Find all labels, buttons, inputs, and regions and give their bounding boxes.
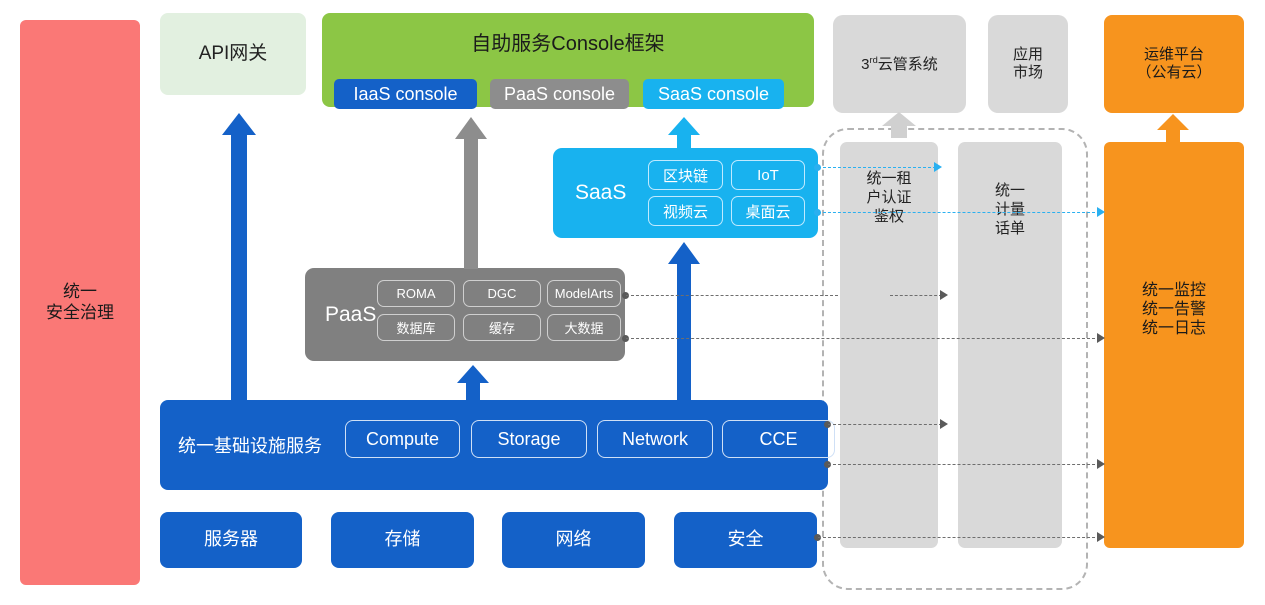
- arrowhead-saas-to-ops: [1097, 207, 1105, 217]
- arrow-infra-to-saas: [668, 242, 700, 400]
- ops-platform-box: 运维平台 （公有云）: [1104, 15, 1244, 113]
- arrowhead-auth-to-billing: [940, 290, 948, 300]
- architecture-diagram: 统一 安全治理 API网关 自助服务Console框架 IaaS console…: [0, 0, 1265, 605]
- saas-label: SaaS: [575, 181, 626, 205]
- ops-monitoring-column: 统一监控 统一告警 统一日志: [1104, 142, 1244, 548]
- shared-service-auth-text: 统一租 户认证 鉴权: [840, 170, 938, 226]
- resource-box-security[interactable]: 安全: [674, 512, 817, 568]
- resource-box-network[interactable]: 网络: [502, 512, 645, 568]
- connector-infra-to-ops: [828, 464, 1100, 465]
- arrow-infra-to-paas: [457, 365, 489, 401]
- saas-chip-desktop-cloud[interactable]: 桌面云: [731, 196, 805, 226]
- infra-chip-network[interactable]: Network: [597, 420, 713, 458]
- saas-console-chip[interactable]: SaaS console: [643, 79, 784, 109]
- app-market-box: 应用 市场: [988, 15, 1068, 113]
- arrowhead-infra-to-ops: [1097, 459, 1105, 469]
- saas-chip-video-cloud[interactable]: 视频云: [648, 196, 723, 226]
- connector-paas-to-ops: [626, 338, 1100, 339]
- paas-chip-bigdata[interactable]: 大数据: [547, 314, 621, 341]
- connector-paas-to-auth: [626, 295, 838, 296]
- iaas-console-chip[interactable]: IaaS console: [334, 79, 477, 109]
- paas-chip-roma[interactable]: ROMA: [377, 280, 455, 307]
- paas-console-label: PaaS console: [504, 84, 615, 105]
- arrow-infra-to-api-gateway: [222, 113, 256, 401]
- arrow-saas-to-console: [668, 117, 700, 149]
- third-party-cloud-box: 3rd云管系统: [833, 15, 966, 113]
- arrowhead-saas-to-auth: [934, 162, 942, 172]
- security-governance-line1: 统一: [63, 282, 97, 302]
- paas-chip-modelarts[interactable]: ModelArts: [547, 280, 621, 307]
- shared-service-billing-text: 统一 计量 话单: [958, 182, 1062, 238]
- ops-monitoring-line1: 统一监控: [1142, 282, 1206, 301]
- paas-box: PaaS ROMA DGC ModelArts 数据库 缓存 大数据: [305, 268, 625, 361]
- infrastructure-label: 统一基础设施服务: [178, 432, 322, 458]
- app-market-line2: 市场: [1013, 64, 1043, 82]
- app-market-line1: 应用: [1013, 46, 1043, 64]
- saas-console-label: SaaS console: [658, 84, 769, 105]
- saas-chip-blockchain[interactable]: 区块链: [648, 160, 723, 190]
- arrow-ops-column-to-ops-platform: [1157, 114, 1189, 144]
- paas-label: PaaS: [325, 303, 376, 327]
- saas-box: SaaS 区块链 IoT 视频云 桌面云: [553, 148, 818, 238]
- iaas-console-label: IaaS console: [353, 84, 457, 105]
- resource-box-server[interactable]: 服务器: [160, 512, 302, 568]
- console-framework-title: 自助服务Console框架: [322, 27, 814, 56]
- api-gateway-box: API网关: [160, 13, 306, 95]
- arrowhead-paas-to-ops: [1097, 333, 1105, 343]
- arrowhead-infra-to-auth: [940, 419, 948, 429]
- connector-infra-to-auth: [828, 424, 942, 425]
- arrow-shared-to-third-party: [882, 112, 916, 138]
- connector-resource-to-ops: [818, 537, 1100, 538]
- ops-platform-line2: （公有云）: [1136, 64, 1211, 82]
- connector-auth-to-billing: [890, 295, 942, 296]
- paas-chip-dgc[interactable]: DGC: [463, 280, 541, 307]
- ops-platform-line1: 运维平台: [1144, 46, 1204, 64]
- infra-chip-compute[interactable]: Compute: [345, 420, 460, 458]
- paas-console-chip[interactable]: PaaS console: [490, 79, 629, 109]
- resource-box-storage[interactable]: 存储: [331, 512, 474, 568]
- connector-saas-to-ops: [818, 212, 1100, 213]
- connector-saas-to-auth: [818, 167, 936, 168]
- shared-service-column-auth: 统一租 户认证 鉴权: [840, 142, 938, 548]
- arrowhead-resource-to-ops: [1097, 532, 1105, 542]
- paas-chip-cache[interactable]: 缓存: [463, 314, 541, 341]
- shared-service-column-billing: 统一 计量 话单: [958, 142, 1062, 548]
- saas-chip-iot[interactable]: IoT: [731, 160, 805, 190]
- paas-chip-database[interactable]: 数据库: [377, 314, 455, 341]
- infrastructure-bar: 统一基础设施服务 Compute Storage Network CCE: [160, 400, 828, 490]
- infra-chip-storage[interactable]: Storage: [471, 420, 587, 458]
- console-framework-panel: 自助服务Console框架 IaaS console PaaS console …: [322, 13, 814, 107]
- security-governance-line2: 安全治理: [46, 303, 114, 323]
- infra-chip-cce[interactable]: CCE: [722, 420, 835, 458]
- ops-monitoring-line2: 统一告警: [1142, 301, 1206, 320]
- arrow-paas-to-console: [455, 117, 487, 269]
- ops-monitoring-line3: 统一日志: [1142, 320, 1206, 339]
- third-party-cloud-label: 3rd云管系统: [861, 55, 938, 74]
- security-governance-panel: 统一 安全治理: [20, 20, 140, 585]
- api-gateway-label: API网关: [199, 43, 268, 65]
